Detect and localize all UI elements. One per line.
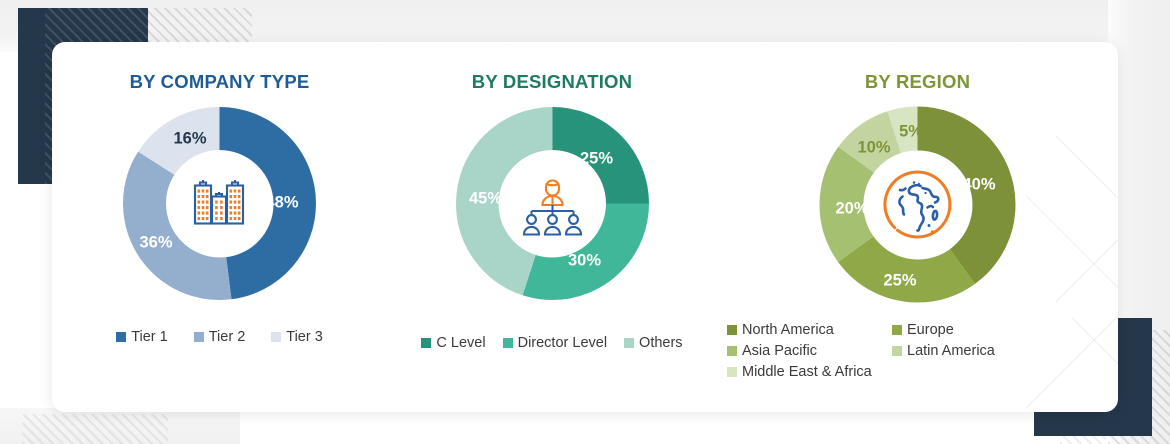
- legend-label: North America: [742, 322, 834, 338]
- legend-item-tier-3[interactable]: Tier 3: [271, 329, 323, 345]
- panel-by-designation: BY DESIGNATION: [387, 42, 717, 412]
- office-buildings-icon: [187, 171, 253, 237]
- panel-title-region: BY REGION: [865, 71, 970, 93]
- slice-label-director-level: 30%: [568, 252, 601, 271]
- legend-designation: C Level Director Level Others: [387, 335, 717, 351]
- legend-item-director-level[interactable]: Director Level: [503, 335, 607, 351]
- legend-item-europe[interactable]: Europe: [892, 322, 1057, 338]
- legend-region: North America Europe Asia Pacific Latin …: [727, 322, 1057, 380]
- panel-title-designation: BY DESIGNATION: [472, 71, 632, 93]
- donut-center-hole-company-type: [166, 150, 273, 257]
- legend-swatch-icon: [503, 338, 513, 348]
- donut-center-hole-region: [863, 150, 972, 259]
- legend-label: Tier 2: [209, 329, 246, 345]
- legend-item-tier-2[interactable]: Tier 2: [194, 329, 246, 345]
- org-chart-people-icon: [517, 171, 587, 237]
- legend-label: Latin America: [907, 343, 995, 359]
- legend-swatch-icon: [892, 346, 902, 356]
- legend-item-tier-1[interactable]: Tier 1: [116, 329, 168, 345]
- legend-swatch-icon: [116, 332, 126, 342]
- legend-swatch-icon: [892, 325, 902, 335]
- legend-item-middle-east-africa[interactable]: Middle East & Africa: [727, 364, 1057, 380]
- legend-label: Tier 3: [286, 329, 323, 345]
- legend-item-others[interactable]: Others: [624, 335, 683, 351]
- legend-swatch-icon: [271, 332, 281, 342]
- hatch-pattern-bottom-left: [22, 414, 168, 444]
- legend-label: Asia Pacific: [742, 343, 817, 359]
- legend-label: C Level: [436, 335, 485, 351]
- donut-chart-company-type: 48% 36% 16%: [122, 106, 317, 301]
- legend-company-type: Tier 1 Tier 2 Tier 3: [52, 329, 387, 345]
- slice-label-tier-2: 36%: [139, 234, 172, 253]
- charts-card: BY COMPANY TYPE: [52, 42, 1118, 412]
- slice-label-others: 45%: [469, 190, 502, 209]
- slice-label-c-level: 25%: [580, 150, 613, 169]
- legend-swatch-icon: [194, 332, 204, 342]
- donut-chart-designation: 25% 30% 45%: [455, 106, 650, 301]
- legend-item-latin-america[interactable]: Latin America: [892, 343, 1057, 359]
- globe-icon: [881, 168, 955, 242]
- slice-label-tier-3: 16%: [173, 130, 206, 149]
- legend-swatch-icon: [727, 346, 737, 356]
- legend-label: Others: [639, 335, 683, 351]
- legend-item-c-level[interactable]: C Level: [421, 335, 485, 351]
- legend-label: Tier 1: [131, 329, 168, 345]
- slice-label-asia-pacific: 20%: [835, 200, 868, 219]
- slice-label-middle-east-africa: 5%: [899, 123, 923, 142]
- slice-label-europe: 25%: [883, 272, 916, 291]
- donut-chart-region: 40% 25% 20% 10% 5%: [819, 106, 1016, 303]
- slice-label-latin-america: 10%: [857, 139, 890, 158]
- legend-label: Europe: [907, 322, 954, 338]
- legend-item-asia-pacific[interactable]: Asia Pacific: [727, 343, 892, 359]
- legend-swatch-icon: [624, 338, 634, 348]
- panel-title-company-type: BY COMPANY TYPE: [130, 71, 310, 93]
- slice-label-north-america: 40%: [962, 176, 995, 195]
- legend-swatch-icon: [727, 367, 737, 377]
- legend-label: Middle East & Africa: [742, 364, 872, 380]
- legend-swatch-icon: [727, 325, 737, 335]
- legend-item-north-america[interactable]: North America: [727, 322, 892, 338]
- slice-label-tier-1: 48%: [265, 194, 298, 213]
- panel-by-region: BY REGION: [717, 42, 1118, 412]
- legend-label: Director Level: [518, 335, 607, 351]
- legend-swatch-icon: [421, 338, 431, 348]
- panel-by-company-type: BY COMPANY TYPE: [52, 42, 387, 412]
